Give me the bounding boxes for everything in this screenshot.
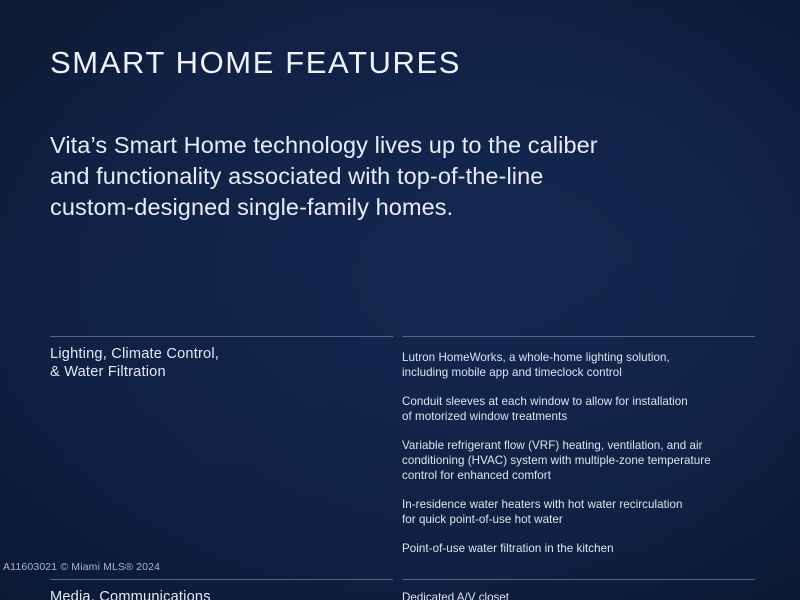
intro-paragraph: Vita’s Smart Home technology lives up to…	[50, 130, 650, 223]
features-divider-rule	[402, 336, 755, 337]
next-category-divider-rule	[50, 579, 393, 580]
list-item-line: Lutron HomeWorks, a whole-home lighting …	[402, 350, 755, 365]
list-item: Conduit sleeves at each window to allow …	[402, 394, 755, 425]
list-item-line: of motorized window treatments	[402, 409, 755, 424]
mls-watermark: A11603021 © Miami MLS® 2024	[3, 561, 160, 574]
list-item: Dedicated A/V closet	[402, 590, 755, 600]
list-item-line: In-residence water heaters with hot wate…	[402, 497, 755, 512]
list-item-line: control for enhanced comfort	[402, 468, 755, 483]
list-item-line: conditioning (HVAC) system with multiple…	[402, 453, 755, 468]
next-features-divider-rule	[402, 579, 755, 580]
next-features-list-column: Dedicated A/V closet	[402, 579, 755, 600]
list-item: Point-of-use water filtration in the kit…	[402, 541, 755, 556]
next-category-heading: Media, Communications	[50, 589, 393, 600]
intro-line-2: and functionality associated with top-of…	[50, 161, 650, 192]
next-category-column: Media, Communications	[50, 579, 393, 600]
features-list-column: Lutron HomeWorks, a whole-home lighting …	[402, 336, 755, 556]
list-item-line: Point-of-use water filtration in the kit…	[402, 541, 755, 556]
brochure-slide: SMART HOME FEATURES Vita’s Smart Home te…	[0, 0, 800, 600]
list-item-line: Conduit sleeves at each window to allow …	[402, 394, 755, 409]
list-item-line: Variable refrigerant flow (VRF) heating,…	[402, 438, 755, 453]
list-item-line: for quick point-of-use hot water	[402, 512, 755, 527]
intro-line-3: custom-designed single-family homes.	[50, 192, 650, 223]
page-title: SMART HOME FEATURES	[50, 44, 461, 82]
category-heading-line-1: Lighting, Climate Control,	[50, 346, 393, 364]
list-item: Variable refrigerant flow (VRF) heating,…	[402, 438, 755, 484]
list-item-line: including mobile app and timeclock contr…	[402, 365, 755, 380]
features-category-column: Lighting, Climate Control, & Water Filtr…	[50, 336, 393, 381]
category-heading: Lighting, Climate Control, & Water Filtr…	[50, 346, 393, 381]
list-item: Lutron HomeWorks, a whole-home lighting …	[402, 350, 755, 381]
intro-line-1: Vita’s Smart Home technology lives up to…	[50, 130, 650, 161]
list-item: In-residence water heaters with hot wate…	[402, 497, 755, 528]
category-heading-line-2: & Water Filtration	[50, 364, 393, 382]
category-divider-rule	[50, 336, 393, 337]
